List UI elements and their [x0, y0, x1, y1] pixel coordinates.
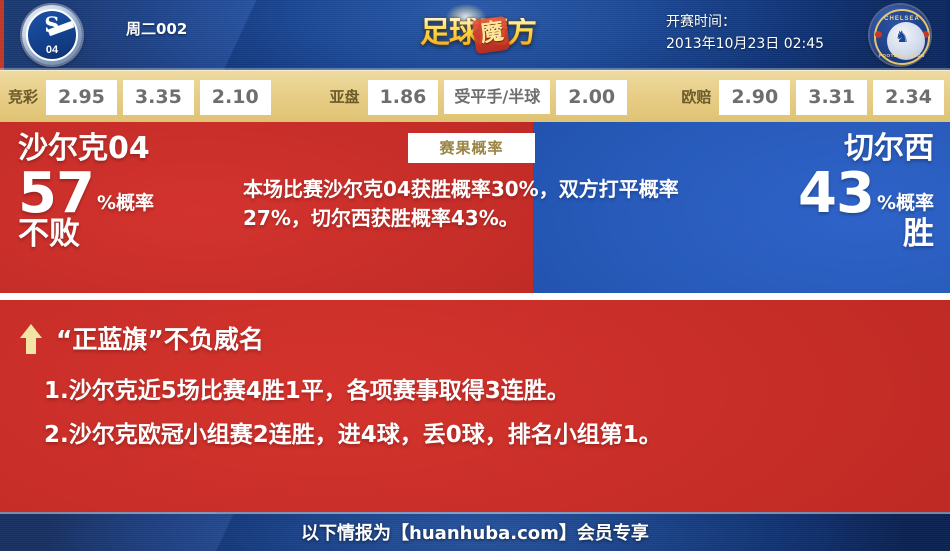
footer-text: 以下情报为【huanhuba.com】会员专享 — [301, 525, 649, 543]
crest-letter: S — [28, 14, 76, 35]
section-divider — [0, 293, 950, 300]
crest-top-text: CHELSEA — [876, 16, 928, 22]
away-probability-block: 切尔西 43 %概率 胜 — [798, 132, 934, 251]
probability-section: 沙尔克04 57 %概率 不败 赛果概率 本场比赛沙尔克04获胜概率30%，双方… — [0, 122, 950, 293]
odds-label-jingcai: 竞彩 — [8, 90, 38, 105]
analysis-headline: “正蓝旗”不负威名 — [56, 327, 264, 352]
odds-value-oupei-home[interactable]: 2.90 — [719, 80, 790, 115]
chelsea-crest-icon: CHELSEA ♞ FOOTBALL CLUB — [870, 5, 930, 65]
home-probability-unit: %概率 — [94, 194, 154, 220]
header-right-edge — [946, 0, 950, 70]
match-number: 周二002 — [126, 22, 187, 37]
crest-number: 04 — [28, 45, 76, 56]
home-probability-block: 沙尔克04 57 %概率 不败 — [18, 132, 154, 251]
odds-value-jingcai-draw[interactable]: 3.35 — [123, 80, 194, 115]
arrow-up-icon — [20, 324, 42, 354]
schalke-04-crest-icon: S 04 — [22, 5, 82, 65]
kickoff-label: 开赛时间： — [666, 12, 824, 34]
crest-lion-icon: ♞ — [876, 29, 928, 45]
analysis-headline-row: “正蓝旗”不负威名 — [20, 324, 264, 354]
odds-value-yapan-home[interactable]: 1.86 — [368, 80, 439, 115]
list-item: 1.沙尔克近5场比赛4胜1平，各项赛事取得3连胜。 — [44, 370, 662, 414]
odds-group-jingcai: 竞彩 2.95 3.35 2.10 — [0, 80, 277, 115]
away-probability-value: 43 — [798, 167, 874, 220]
odds-label-oupei: 欧赔 — [681, 90, 711, 105]
odds-bar: 竞彩 2.95 3.35 2.10 亚盘 1.86 受平手/半球 2.00 欧赔… — [0, 70, 950, 124]
header-bar: S 04 周二002 足球魔方 魔 开赛时间： 2013年10月23日 02:4… — [0, 0, 950, 70]
odds-group-oupei: 欧赔 2.90 3.31 2.34 — [673, 80, 950, 115]
kickoff-time: 开赛时间： 2013年10月23日 02:45 — [666, 12, 824, 55]
logo-mark-char: 魔 — [475, 20, 510, 47]
footer-bar: 以下情报为【huanhuba.com】会员专享 — [0, 512, 950, 551]
match-preview-infographic: S 04 周二002 足球魔方 魔 开赛时间： 2013年10月23日 02:4… — [0, 0, 950, 551]
odds-label-yapan: 亚盘 — [329, 90, 359, 105]
list-item: 2.沙尔克欧冠小组赛2连胜，进4球，丢0球，排名小组第1。 — [44, 414, 662, 458]
result-probability-tab: 赛果概率 — [408, 133, 535, 163]
odds-value-oupei-draw[interactable]: 3.31 — [796, 80, 867, 115]
home-probability-value: 57 — [18, 167, 94, 220]
odds-value-jingcai-home[interactable]: 2.95 — [46, 80, 117, 115]
crest-bottom-text: FOOTBALL CLUB — [876, 54, 928, 59]
odds-group-yapan: 亚盘 1.86 受平手/半球 2.00 — [321, 80, 633, 115]
site-logo[interactable]: 足球魔方 魔 — [398, 8, 558, 58]
odds-value-jingcai-away[interactable]: 2.10 — [200, 80, 271, 115]
analysis-bullet-list: 1.沙尔克近5场比赛4胜1平，各项赛事取得3连胜。 2.沙尔克欧冠小组赛2连胜，… — [44, 370, 662, 457]
header-left-edge — [0, 0, 4, 70]
probability-summary: 本场比赛沙尔克04获胜概率30%，双方打平概率27%，切尔西获胜概率43%。 — [243, 175, 698, 233]
odds-value-oupei-away[interactable]: 2.34 — [873, 80, 944, 115]
analysis-section: “正蓝旗”不负威名 1.沙尔克近5场比赛4胜1平，各项赛事取得3连胜。 2.沙尔… — [0, 300, 950, 512]
odds-value-yapan-away[interactable]: 2.00 — [556, 80, 627, 115]
odds-value-yapan-handicap[interactable]: 受平手/半球 — [444, 80, 550, 114]
kickoff-value: 2013年10月23日 02:45 — [666, 34, 824, 56]
